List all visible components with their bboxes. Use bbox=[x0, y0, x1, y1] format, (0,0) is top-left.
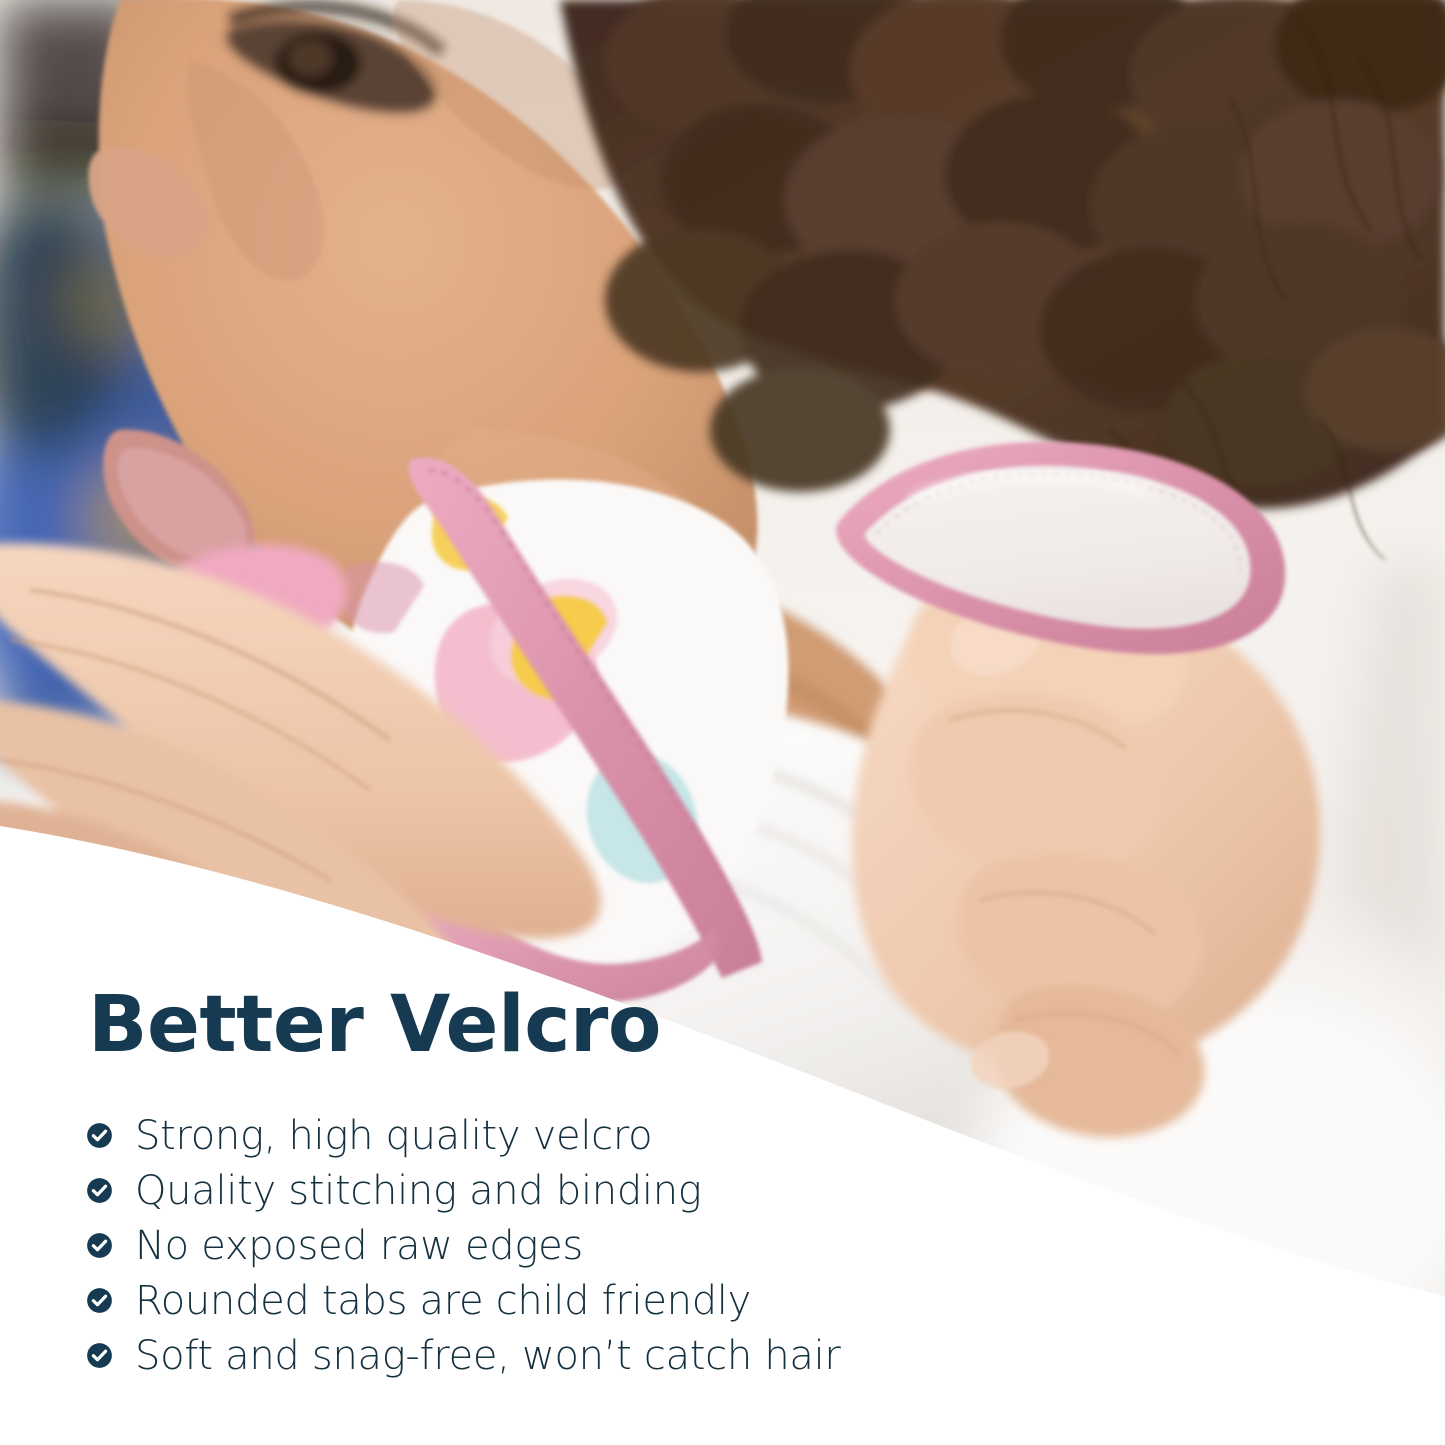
product-feature-card: Better Velcro Strong, high quality velcr… bbox=[0, 0, 1445, 1445]
list-item: Soft and snag-free, won’t catch hair bbox=[86, 1328, 1036, 1383]
feature-list: Strong, high quality velcro Quality stit… bbox=[86, 1108, 1036, 1383]
list-item-label: Rounded tabs are child friendly bbox=[135, 1281, 751, 1321]
list-item: Strong, high quality velcro bbox=[86, 1108, 1036, 1163]
check-circle-icon bbox=[86, 1342, 113, 1369]
list-item-label: Quality stitching and binding bbox=[135, 1171, 701, 1211]
list-item-label: No exposed raw edges bbox=[135, 1226, 583, 1266]
check-circle-icon bbox=[86, 1122, 113, 1149]
check-circle-icon bbox=[86, 1177, 113, 1204]
list-item: No exposed raw edges bbox=[86, 1218, 1036, 1273]
list-item: Rounded tabs are child friendly bbox=[86, 1273, 1036, 1328]
check-circle-icon bbox=[86, 1287, 113, 1314]
page-title: Better Velcro bbox=[88, 986, 661, 1064]
list-item-label: Soft and snag-free, won’t catch hair bbox=[135, 1336, 841, 1376]
check-circle-icon bbox=[86, 1232, 113, 1259]
feature-text-panel: Better Velcro Strong, high quality velcr… bbox=[0, 0, 1445, 1445]
list-item: Quality stitching and binding bbox=[86, 1163, 1036, 1218]
list-item-label: Strong, high quality velcro bbox=[135, 1116, 652, 1156]
